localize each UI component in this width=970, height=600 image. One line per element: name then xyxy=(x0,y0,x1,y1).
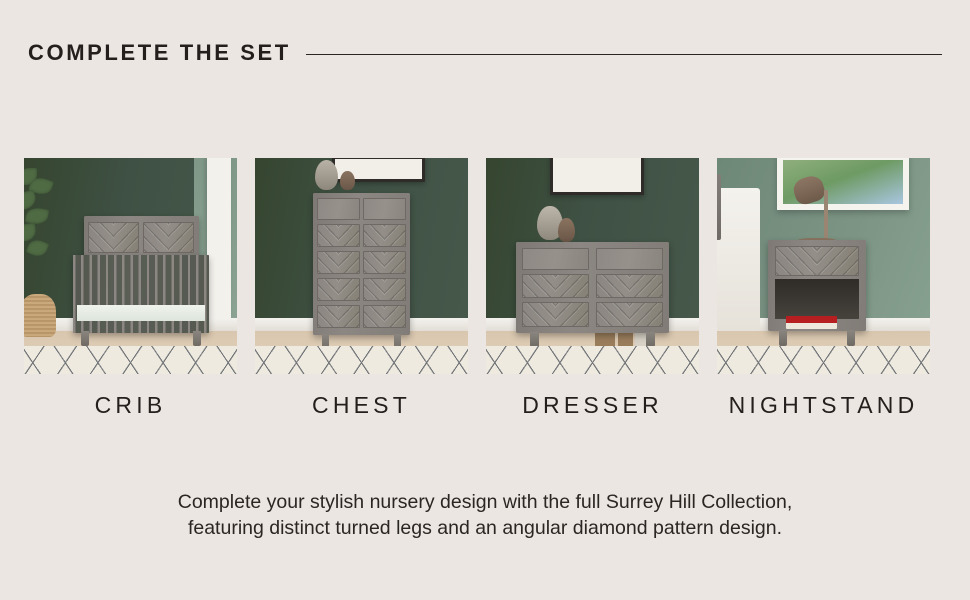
books xyxy=(786,316,837,329)
dresser-body xyxy=(516,242,669,333)
crib-front-rail xyxy=(73,255,209,333)
open-shelf xyxy=(775,279,859,319)
description-line-2: featuring distinct turned legs and an an… xyxy=(105,515,865,541)
page-title: COMPLETE THE SET xyxy=(28,42,291,64)
nightstand-body xyxy=(768,240,866,331)
product-tile-crib[interactable] xyxy=(24,158,237,374)
area-rug xyxy=(486,346,699,374)
crib-headboard xyxy=(84,216,199,259)
label-cell-crib: CRIB xyxy=(24,388,237,422)
product-label-row: CRIB CHEST DRESSER NIGHTSTAND xyxy=(24,388,930,422)
product-label-nightstand: NIGHTSTAND xyxy=(729,394,919,417)
product-label-dresser: DRESSER xyxy=(522,394,663,417)
product-tile-row xyxy=(24,158,930,374)
door-frame xyxy=(207,158,230,318)
header-divider xyxy=(306,54,942,55)
bed xyxy=(717,188,760,331)
label-cell-chest: CHEST xyxy=(255,388,468,422)
crib-slats xyxy=(73,255,209,333)
decor-vase-large xyxy=(315,160,338,190)
product-label-crib: CRIB xyxy=(95,394,167,417)
area-rug xyxy=(717,346,930,374)
collection-description: Complete your stylish nursery design wit… xyxy=(105,489,865,541)
crib-mattress xyxy=(77,305,205,321)
product-tile-chest[interactable] xyxy=(255,158,468,374)
product-label-chest: CHEST xyxy=(312,394,411,417)
area-rug xyxy=(255,346,468,374)
product-tile-dresser[interactable] xyxy=(486,158,699,374)
area-rug xyxy=(24,346,237,374)
woven-basket xyxy=(24,294,56,337)
section-header: COMPLETE THE SET xyxy=(28,36,942,70)
label-cell-nightstand: NIGHTSTAND xyxy=(717,388,930,422)
decor-vase-small xyxy=(558,218,575,242)
houseplant xyxy=(24,162,62,296)
bed-headboard xyxy=(717,174,721,240)
label-cell-dresser: DRESSER xyxy=(486,388,699,422)
product-tile-nightstand[interactable] xyxy=(717,158,930,374)
decor-vase-small xyxy=(340,171,355,190)
desk-lamp-arm xyxy=(824,190,829,242)
chest-body xyxy=(313,193,411,336)
description-line-1: Complete your stylish nursery design wit… xyxy=(105,489,865,515)
framed-art xyxy=(550,158,644,195)
